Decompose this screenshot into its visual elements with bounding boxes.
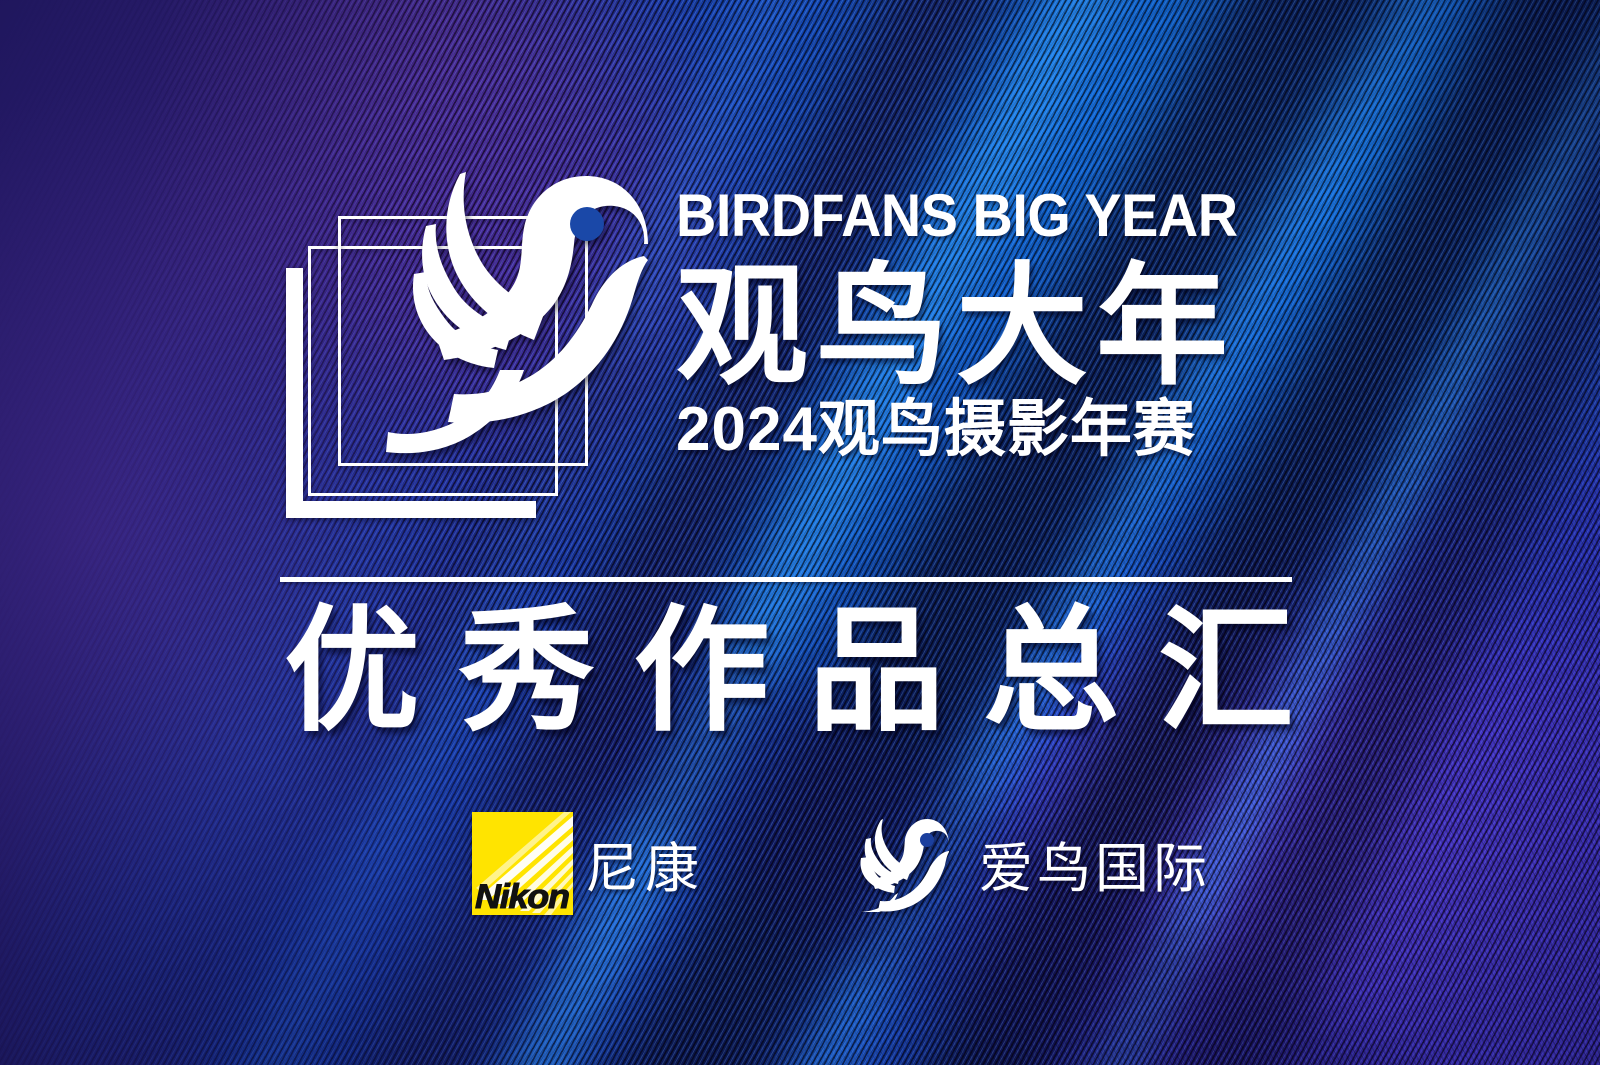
headline-char: 总 bbox=[983, 600, 1119, 743]
poster-canvas: BIRDFANS BIG YEAR 观鸟大年 2024观鸟摄影年赛 优 秀 作 … bbox=[0, 0, 1600, 1065]
nikon-name-cn: 尼康 bbox=[585, 824, 705, 903]
headline-char: 秀 bbox=[459, 600, 595, 743]
title-lockup: BIRDFANS BIG YEAR 观鸟大年 2024观鸟摄影年赛 bbox=[676, 186, 1316, 461]
nikon-wordmark: Nikon bbox=[475, 878, 569, 915]
headline-char: 汇 bbox=[1158, 600, 1294, 743]
headline-char: 优 bbox=[284, 600, 420, 743]
poster-content: BIRDFANS BIG YEAR 观鸟大年 2024观鸟摄影年赛 优 秀 作 … bbox=[0, 0, 1600, 1065]
birdfans-bird-icon bbox=[851, 816, 949, 912]
section-divider bbox=[280, 577, 1292, 582]
sponsor-nikon: Nikon 尼康 bbox=[472, 812, 705, 915]
nikon-logo-icon: Nikon bbox=[472, 812, 573, 915]
headline-char: 作 bbox=[634, 600, 770, 743]
birdfans-name-cn: 爱鸟国际 bbox=[979, 824, 1211, 903]
brand-chinese-title: 观鸟大年 bbox=[676, 260, 1316, 395]
event-emblem bbox=[286, 168, 636, 518]
sponsor-row: Nikon 尼康 bbox=[472, 812, 1211, 915]
edition-subtitle: 2024观鸟摄影年赛 bbox=[676, 399, 1316, 461]
page-title: 优 秀 作 品 总 汇 bbox=[284, 600, 1294, 743]
headline-char: 品 bbox=[808, 600, 944, 743]
flying-bird-icon bbox=[348, 164, 648, 454]
sponsor-birdfans-international: 爱鸟国际 bbox=[851, 816, 1211, 912]
brand-english-title: BIRDFANS BIG YEAR bbox=[676, 186, 1271, 246]
